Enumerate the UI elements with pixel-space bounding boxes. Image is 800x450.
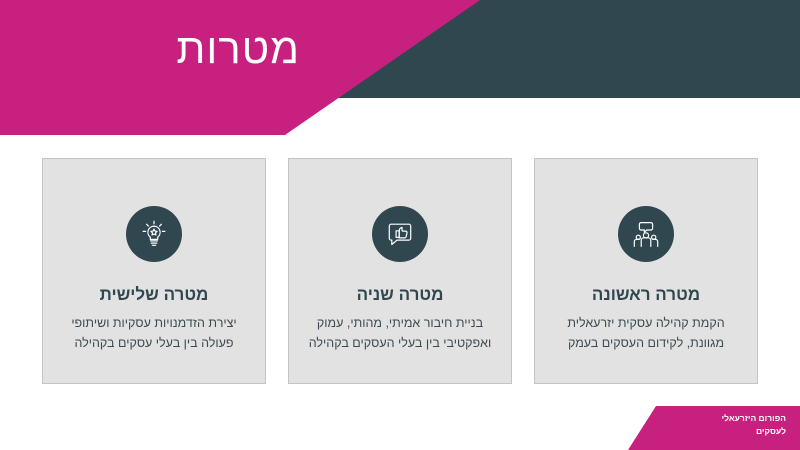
goal-card-body: הקמת קהילה עסקית יזרעאלית מגוונת, לקידום… xyxy=(535,314,757,353)
slide: מטרות מטרה ראשונה הקמת קהילה עסקית יזרעא… xyxy=(0,0,800,450)
goal-card-title: מטרה שלישית xyxy=(100,285,209,305)
thumbs-up-speech-bubble-icon xyxy=(372,206,428,262)
page-title: מטרות xyxy=(0,26,300,72)
people-group-speech-bubble-icon xyxy=(618,206,674,262)
goal-card-title: מטרה שניה xyxy=(357,285,444,305)
goal-card-title: מטרה ראשונה xyxy=(592,285,700,305)
footer-logo-line2: לעסקים xyxy=(628,425,786,438)
lightbulb-star-icon xyxy=(126,206,182,262)
footer-logo-text: הפורום היזרעאלי לעסקים xyxy=(628,412,786,438)
goal-card-second[interactable]: מטרה שניה בניית חיבור אמיתי, מהותי, עמוק… xyxy=(288,158,512,384)
footer-logo-line1: הפורום היזרעאלי xyxy=(628,412,786,425)
goal-card-third[interactable]: מטרה שלישית יצירת הזדמנויות עסקיות ושיתו… xyxy=(42,158,266,384)
goal-cards-row: מטרה ראשונה הקמת קהילה עסקית יזרעאלית מג… xyxy=(42,158,758,386)
goal-card-body: בניית חיבור אמיתי, מהותי, עמוק ואפקטיבי … xyxy=(289,314,511,353)
goal-card-first[interactable]: מטרה ראשונה הקמת קהילה עסקית יזרעאלית מג… xyxy=(534,158,758,384)
goal-card-body: יצירת הזדמנויות עסקיות ושיתופי פעולה בין… xyxy=(43,314,265,353)
